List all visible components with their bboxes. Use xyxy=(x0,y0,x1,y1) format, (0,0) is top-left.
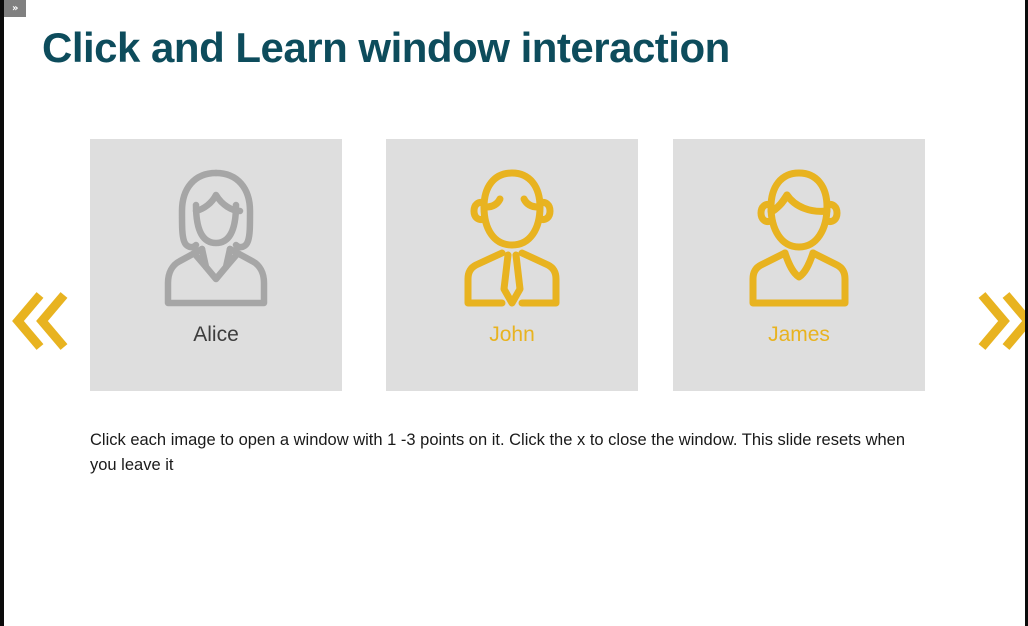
expand-panel-button[interactable]: » xyxy=(4,0,26,17)
person-male-hair-icon xyxy=(733,167,865,309)
person-male-tie-icon xyxy=(446,167,578,309)
person-card-label: James xyxy=(673,323,925,347)
next-slide-button[interactable] xyxy=(972,285,1028,357)
person-card-james[interactable]: James xyxy=(673,139,925,391)
person-card-alice[interactable]: Alice xyxy=(90,139,342,391)
person-female-icon xyxy=(150,167,282,309)
instructions-text: Click each image to open a window with 1… xyxy=(90,428,930,478)
previous-slide-button[interactable] xyxy=(10,285,72,357)
person-card-label: John xyxy=(386,323,638,347)
person-card-label: Alice xyxy=(90,323,342,347)
slide-canvas: » Click and Learn window interaction xyxy=(0,0,1028,626)
double-chevron-left-icon xyxy=(10,285,72,357)
page-title: Click and Learn window interaction xyxy=(42,24,730,72)
person-card-john[interactable]: John xyxy=(386,139,638,391)
double-chevron-right-icon xyxy=(972,285,1028,357)
person-card-list: Alice xyxy=(90,139,925,391)
